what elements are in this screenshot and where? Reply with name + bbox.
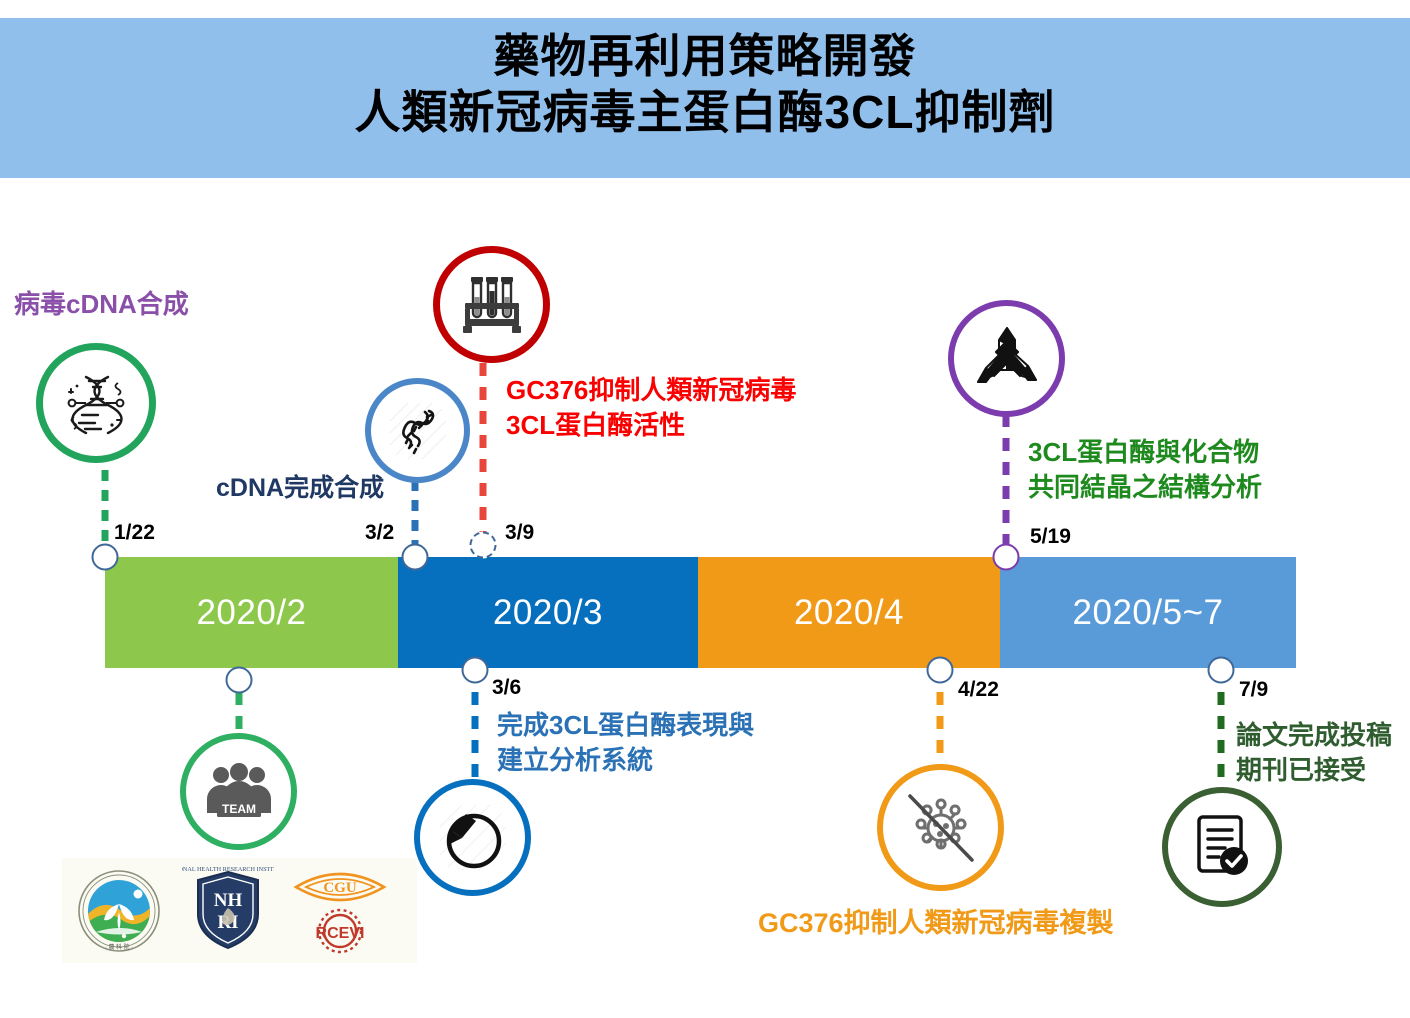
milestone-caption-gc376-3cl-activity: GC376抑制人類新冠病毒 3CL蛋白酶活性 <box>506 373 796 443</box>
document-approved-icon <box>1189 811 1255 883</box>
node-dot-gc376-replication[interactable] <box>927 657 954 684</box>
connector-line-gc376-replication <box>937 668 944 778</box>
milestone-date-7-9: 7/9 <box>1239 678 1268 702</box>
timeline-segment-2020-3[interactable]: 2020/3 <box>398 557 698 668</box>
milestone-date-4-22: 4/22 <box>958 678 999 702</box>
virus-blocked-icon <box>901 788 981 868</box>
test-tube-rack-icon <box>457 273 527 337</box>
milestone-date-1-22: 1/22 <box>114 521 155 545</box>
atri-logo: · 農 科 院 · 農科院 <box>76 868 162 954</box>
icon-circle-test-tube-rack[interactable] <box>433 246 550 363</box>
svg-text:· 農 科 院 ·: · 農 科 院 · <box>105 943 133 951</box>
partner-logos: · 農 科 院 · 農科院 NH RI NATIONAL HEALTH RESE… <box>62 858 417 963</box>
node-dot-virus-cdna-synthesis[interactable] <box>92 544 119 571</box>
milestone-caption-gc376-replication: GC376抑制人類新冠病毒複製 <box>758 908 1114 938</box>
node-dot-paper-accepted[interactable] <box>1208 657 1235 684</box>
team-icon: TEAM <box>203 763 275 821</box>
timeline-segment-2020-5-7[interactable]: 2020/5~7 <box>1000 557 1296 668</box>
timeline-segment-label: 2020/2 <box>105 557 398 668</box>
milestone-caption-3cl-expression-assay: 完成3CL蛋白酶表現與 建立分析系統 <box>497 708 754 778</box>
nhri-logo: NH RI NATIONAL HEALTH RESEARCH INSTITUTE… <box>182 866 274 956</box>
node-dot-cdna-completed[interactable] <box>402 544 429 571</box>
node-dot-gc376-3cl-activity[interactable] <box>470 532 497 559</box>
connector-line-gc376-3cl-activity <box>480 363 487 557</box>
icon-circle-virus-blocked[interactable] <box>877 764 1004 891</box>
timeline-segment-label: 2020/4 <box>698 557 1000 668</box>
milestone-date-3-9: 3/9 <box>505 521 534 545</box>
node-dot-team-formation[interactable] <box>226 667 253 694</box>
svg-text:NH: NH <box>214 890 243 911</box>
rna-strand-icon <box>386 399 450 463</box>
svg-text:RCEVI: RCEVI <box>316 925 365 942</box>
milestone-caption-cdna-completed: cDNA完成合成 <box>216 473 384 503</box>
icon-circle-document-approved[interactable] <box>1162 787 1282 907</box>
milestone-caption-virus-cdna-synthesis: 病毒cDNA合成 <box>14 289 189 319</box>
connector-line-cocrystal-structure <box>1003 414 1010 557</box>
svg-text:TEAM: TEAM <box>222 802 256 816</box>
connector-line-3cl-expression-assay <box>472 668 479 781</box>
page-title: 藥物再利用策略開發 人類新冠病毒主蛋白酶3CL抑制劑 <box>0 28 1410 140</box>
timeline-segment-label: 2020/5~7 <box>1000 557 1296 668</box>
connector-line-paper-accepted <box>1218 668 1225 790</box>
svg-text:CGU: CGU <box>323 880 357 896</box>
node-dot-3cl-expression-assay[interactable] <box>462 657 489 684</box>
node-dot-cocrystal-structure[interactable] <box>993 544 1020 571</box>
icon-circle-crystal[interactable] <box>948 300 1065 417</box>
timeline-segment-2020-4[interactable]: 2020/4 <box>698 557 1000 668</box>
connector-line-virus-cdna-synthesis <box>102 450 109 557</box>
svg-text:NATIONAL HEALTH RESEARCH INSTI: NATIONAL HEALTH RESEARCH INSTITUTES <box>182 866 274 873</box>
milestone-caption-cocrystal-structure: 3CL蛋白酶與化合物 共同結晶之結構分析 <box>1028 435 1262 505</box>
icon-circle-rna-strand[interactable] <box>365 378 470 483</box>
milestone-caption-paper-accepted: 論文完成投稿 期刊已接受 <box>1236 718 1392 788</box>
icon-circle-team[interactable]: TEAM <box>180 733 297 850</box>
milestone-date-3-2: 3/2 <box>365 521 394 545</box>
icon-circle-dna-helix[interactable] <box>36 343 156 463</box>
milestone-date-3-6: 3/6 <box>492 676 521 700</box>
cgu-rcevi-logo: CGU RCEVI CGU RCEVI <box>290 865 390 957</box>
milestone-date-5-19: 5/19 <box>1030 525 1071 549</box>
plasmid-icon <box>436 801 510 875</box>
timeline-segment-2020-2[interactable]: 2020/2 <box>105 557 398 668</box>
timeline-segment-label: 2020/3 <box>398 557 698 668</box>
icon-circle-plasmid[interactable] <box>414 779 531 896</box>
crystal-icon <box>970 322 1044 396</box>
dna-helix-icon <box>60 367 132 439</box>
infographic-canvas: 藥物再利用策略開發 人類新冠病毒主蛋白酶3CL抑制劑 2020/2 2020/3… <box>0 0 1410 1018</box>
